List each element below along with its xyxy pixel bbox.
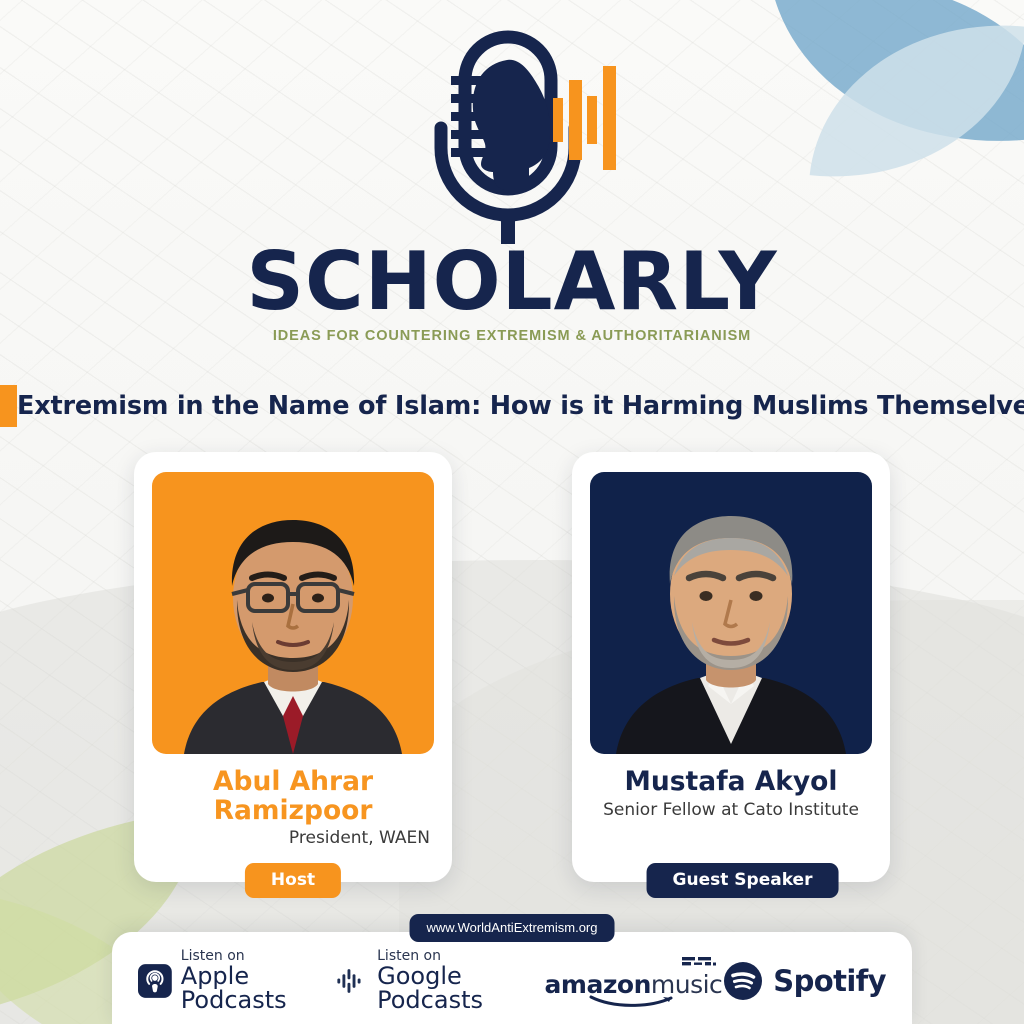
listen-on-google-podcasts[interactable]: Listen on Google Podcasts xyxy=(334,949,544,1012)
amazon-swoosh-icon xyxy=(587,995,679,1007)
speaker-card-host: Abul Ahrar Ramizpoor President, WAEN Hos… xyxy=(134,452,452,882)
spotify-icon xyxy=(722,960,764,1002)
headline-accent-bar-left xyxy=(0,385,17,427)
spotify-link[interactable]: Spotify xyxy=(722,960,886,1002)
brand-logo: SCHOLARLY IDEAS FOR COUNTERING EXTREMISM… xyxy=(0,18,1024,344)
portrait-mustafa-akyol xyxy=(590,472,872,754)
listen-on-apple-podcasts[interactable]: Listen on Apple Podcasts xyxy=(138,949,334,1012)
platform-name: Spotify xyxy=(773,964,886,998)
avatar xyxy=(590,472,872,754)
platform-name: Google Podcasts xyxy=(377,964,544,1013)
headline-row: Extremism in the Name of Islam: How is i… xyxy=(0,385,1024,427)
amazon-music-link[interactable]: amazonmusic xyxy=(545,956,723,1007)
status-badge-host: Host xyxy=(245,863,341,898)
speaker-cards: Abul Ahrar Ramizpoor President, WAEN Hos… xyxy=(0,452,1024,882)
avatar xyxy=(152,472,434,754)
status-badge-guest: Guest Speaker xyxy=(647,863,839,898)
portrait-abul-ahrar-ramizpoor xyxy=(152,472,434,754)
podcast-microphone-face-icon xyxy=(397,18,627,250)
speaker-role: Senior Fellow at Cato Institute xyxy=(590,800,872,820)
website-url[interactable]: www.WorldAntiExtremism.org xyxy=(410,914,615,942)
episode-title: Extremism in the Name of Islam: How is i… xyxy=(17,391,1024,421)
amazon-music-icon xyxy=(662,956,722,969)
logo-tagline: IDEAS FOR COUNTERING EXTREMISM & AUTHORI… xyxy=(273,328,751,344)
google-podcasts-icon xyxy=(334,961,368,1001)
platform-name: Apple Podcasts xyxy=(181,964,335,1013)
apple-podcasts-icon xyxy=(138,961,172,1001)
podcast-promo-poster: SCHOLARLY IDEAS FOR COUNTERING EXTREMISM… xyxy=(0,0,1024,1024)
logo-wordmark: SCHOLARLY xyxy=(246,244,777,321)
speaker-card-guest: Mustafa Akyol Senior Fellow at Cato Inst… xyxy=(572,452,890,882)
speaker-role: President, WAEN xyxy=(152,828,434,848)
footer-bar: www.WorldAntiExtremism.org Listen on App… xyxy=(112,932,912,1024)
speaker-name: Abul Ahrar Ramizpoor xyxy=(152,768,434,825)
speaker-name: Mustafa Akyol xyxy=(590,768,872,797)
